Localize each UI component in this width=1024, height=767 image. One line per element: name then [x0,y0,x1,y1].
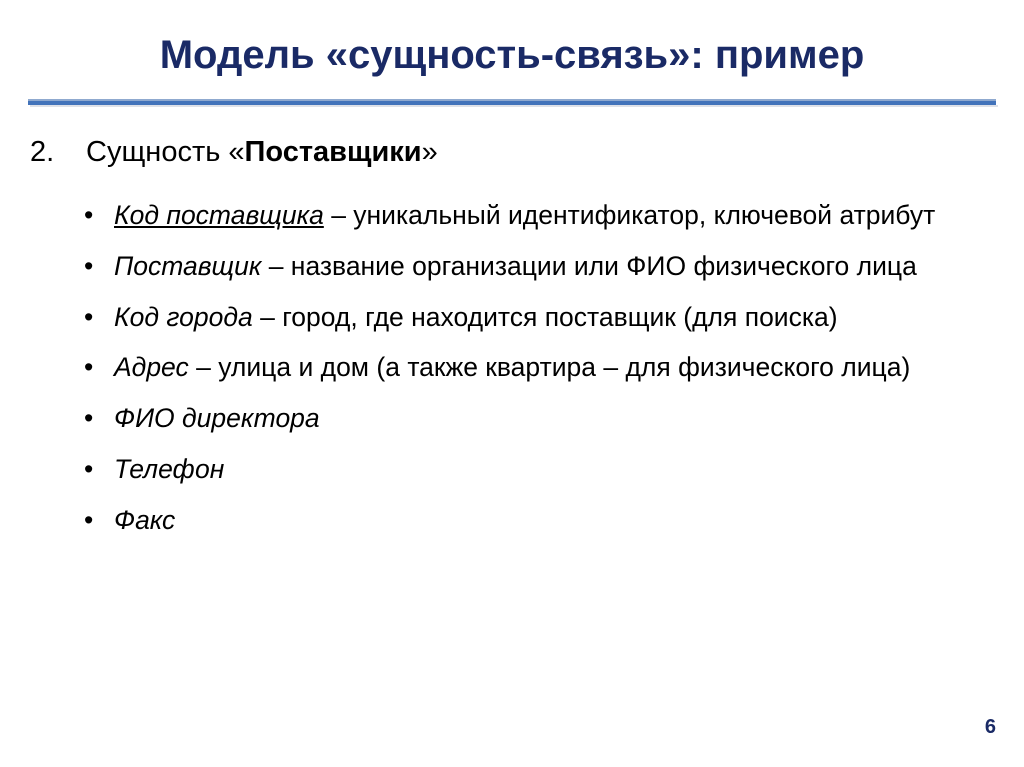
list-item-text: Телефон [114,454,1017,486]
list-item-text: Поставщик – название организации или ФИО… [114,251,1017,283]
page-title: Модель «сущность-связь»: пример [160,33,865,77]
list-item: • ФИО директора [82,403,1017,435]
attribute-name: Поставщик [114,251,261,281]
list-item: • Код города – город, где находится пост… [82,302,1017,334]
bullet-icon: • [82,454,114,486]
list-item: • Поставщик – название организации или Ф… [82,251,1017,283]
entity-name: Поставщики [245,136,422,168]
slide: Модель «сущность-связь»: пример 2. Сущно… [0,0,1024,767]
attribute-name: Адрес [114,352,189,382]
attribute-list: • Код поставщика – уникальный идентифика… [82,200,1017,537]
list-item-text: Адрес – улица и дом (а также квартира – … [114,352,1017,384]
attribute-description: – название организации или ФИО физическо… [261,251,916,281]
bullet-icon: • [82,403,114,435]
attribute-name: Факс [114,505,175,535]
list-item-text: Факс [114,505,1017,537]
list-item: • Адрес – улица и дом (а также квартира … [82,352,1017,384]
entity-suffix: » [422,136,438,168]
entity-prefix: Сущность « [86,136,245,168]
list-item: • Факс [82,505,1017,537]
bullet-icon: • [82,302,114,334]
list-item-text: Код поставщика – уникальный идентификато… [114,200,1017,232]
bullet-icon: • [82,200,114,232]
page-number: 6 [985,716,996,739]
numbered-item: 2. Сущность «Поставщики» [30,135,990,170]
attribute-name: Код поставщика [114,200,324,230]
bullet-icon: • [82,251,114,283]
bullet-icon: • [82,352,114,384]
attribute-description: – уникальный идентификатор, ключевой атр… [324,200,935,230]
attribute-name: Телефон [114,454,224,484]
list-item: • Телефон [82,454,1017,486]
attribute-name: ФИО директора [114,403,320,433]
title-area: Модель «сущность-связь»: пример [0,24,1024,86]
list-item-text: ФИО директора [114,403,1017,435]
divider-shadow [30,105,998,107]
list-item-text: Код города – город, где находится постав… [114,302,1017,334]
list-item: • Код поставщика – уникальный идентифика… [82,200,1017,232]
numbered-item-text: Сущность «Поставщики» [86,135,438,170]
attribute-description: – улица и дом (а также квартира – для фи… [189,352,911,382]
bullet-icon: • [82,505,114,537]
numbered-item-number: 2. [30,135,86,170]
title-divider [28,99,996,105]
attribute-name: Код города [114,302,253,332]
attribute-description: – город, где находится поставщик (для по… [253,302,838,332]
